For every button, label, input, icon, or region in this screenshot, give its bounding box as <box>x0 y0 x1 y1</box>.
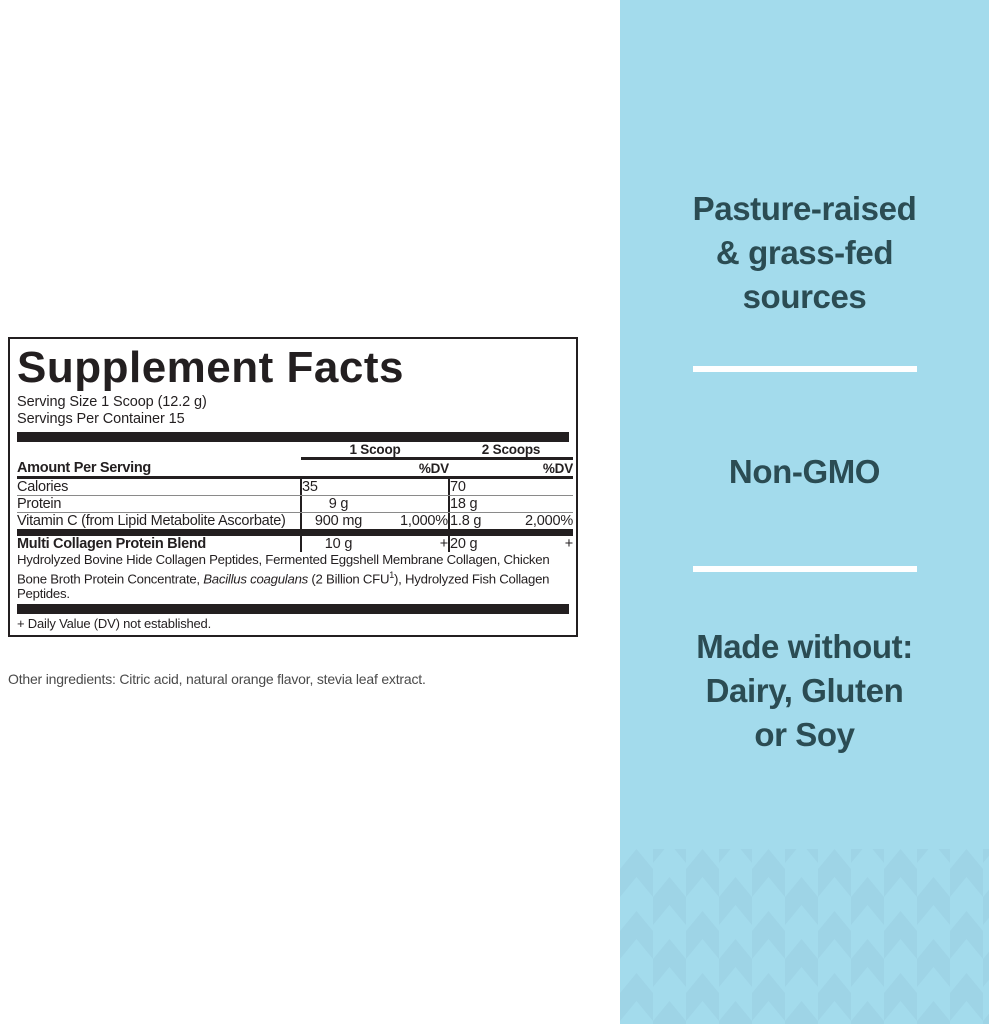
heavy-rule-bottom <box>17 604 569 614</box>
spacer-cell <box>17 442 301 457</box>
table-row-blend-description: Hydrolyzed Bovine Hide Collagen Peptides… <box>17 552 573 602</box>
table-row-amount-header: Amount Per Serving %DV %DV <box>17 460 573 476</box>
nutrient-name: Vitamin C (from Lipid Metabolite Ascorba… <box>17 513 301 529</box>
supplement-facts-pane: Supplement Facts Serving Size 1 Scoop (1… <box>0 0 620 1024</box>
claim-3-line-3: or Soy <box>620 713 989 757</box>
dv-header-2: %DV <box>523 460 573 476</box>
column-header-2-scoops: 2 Scoops <box>449 442 573 457</box>
nutrient-amount-1: 9 g <box>301 496 375 512</box>
claims-divider-2 <box>693 566 917 572</box>
claim-1-line-3: sources <box>620 275 989 319</box>
claim-3-line-1: Made without: <box>620 625 989 669</box>
supplement-facts-title: Supplement Facts <box>17 345 569 391</box>
blend-amount-2: 20 g <box>449 536 523 552</box>
claims-divider-1 <box>693 366 917 372</box>
claim-pasture-raised: Pasture-raised & grass-fed sources <box>620 187 989 319</box>
nutrient-dv-2: 2,000% <box>523 513 573 529</box>
column-header-1-scoop: 1 Scoop <box>301 442 449 457</box>
nutrient-amount-2: 70 <box>449 479 523 495</box>
blend-name: Multi Collagen Protein Blend <box>17 536 301 552</box>
nutrient-dv-1: 1,000% <box>375 513 449 529</box>
heavy-rule-top <box>17 432 569 442</box>
claim-2-line-1: Non-GMO <box>620 450 989 494</box>
table-row: Calories 35 70 <box>17 479 573 495</box>
claim-3-line-2: Dairy, Gluten <box>620 669 989 713</box>
nutrient-dv-1 <box>375 479 449 495</box>
claims-panel: Pasture-raised & grass-fed sources Non-G… <box>620 0 989 1024</box>
nutrient-amount-2: 18 g <box>449 496 523 512</box>
claim-1-line-1: Pasture-raised <box>620 187 989 231</box>
footnote-daily-value: + Daily Value (DV) not established. <box>17 614 569 632</box>
rule-under-vitamins <box>17 529 573 536</box>
blend-desc-italic: Bacillus coagulans <box>203 571 308 586</box>
nutrient-amount-1: 35 <box>301 479 375 495</box>
nutrient-dv-2 <box>523 479 573 495</box>
table-row: Protein 9 g 18 g <box>17 496 573 512</box>
spacer-cell <box>449 460 523 476</box>
table-row-blend: Multi Collagen Protein Blend 10 g + 20 g… <box>17 536 573 552</box>
other-ingredients-text: Other ingredients: Citric acid, natural … <box>8 671 426 687</box>
blend-desc-part-2: (2 Billion CFU <box>308 571 389 586</box>
spacer-cell <box>301 460 375 476</box>
nutrient-dv-1 <box>375 496 449 512</box>
nutrition-table: 1 Scoop 2 Scoops Amount Per Serving %DV … <box>17 442 573 602</box>
nutrient-amount-2: 1.8 g <box>449 513 523 529</box>
claim-non-gmo: Non-GMO <box>620 450 989 494</box>
blend-dv-2: + <box>523 536 573 552</box>
nutrient-dv-2 <box>523 496 573 512</box>
nutrient-amount-1: 900 mg <box>301 513 375 529</box>
servings-per-container-text: Servings Per Container 15 <box>17 411 569 428</box>
nutrient-name: Calories <box>17 479 301 495</box>
table-row: Vitamin C (from Lipid Metabolite Ascorba… <box>17 513 573 529</box>
dv-header-1: %DV <box>375 460 449 476</box>
blend-ingredients-text: Hydrolyzed Bovine Hide Collagen Peptides… <box>17 552 573 602</box>
amount-per-serving-label: Amount Per Serving <box>17 460 301 476</box>
claim-1-line-2: & grass-fed <box>620 231 989 275</box>
blend-dv-1: + <box>375 536 449 552</box>
table-row-scoop-headers: 1 Scoop 2 Scoops <box>17 442 573 457</box>
claim-made-without: Made without: Dairy, Gluten or Soy <box>620 625 989 757</box>
nutrient-name: Protein <box>17 496 301 512</box>
blend-amount-1: 10 g <box>301 536 375 552</box>
serving-size-text: Serving Size 1 Scoop (12.2 g) <box>17 394 569 411</box>
supplement-facts-panel: Supplement Facts Serving Size 1 Scoop (1… <box>8 337 578 637</box>
